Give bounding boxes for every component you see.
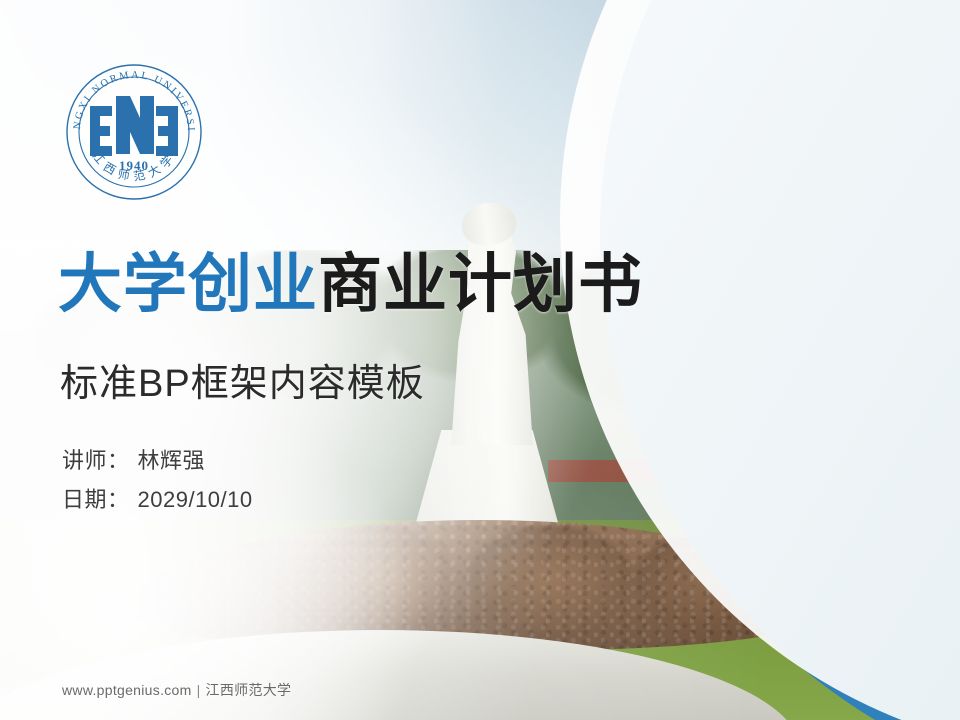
footer-organization: 江西师范大学	[206, 682, 292, 698]
slide-meta: 讲师：林辉强 日期：2029/10/10	[62, 442, 253, 519]
meta-value-presenter: 林辉强	[130, 442, 206, 481]
footer-site-url[interactable]: www.pptgenius.com	[62, 682, 192, 698]
slide-title-rest: 商业计划书	[318, 248, 643, 320]
university-logo: JIANGXI NORMAL UNIVERSITY 江西师范大学 1940	[60, 58, 208, 206]
slide-subtitle: 标准BP框架内容模板	[60, 352, 425, 407]
slide-title: 大学创业商业计划书	[58, 252, 643, 316]
meta-value-date: 2029/10/10	[130, 481, 253, 520]
slide-footer: www.pptgenius.com|江西师范大学	[62, 680, 291, 700]
meta-row-presenter: 讲师：林辉强	[62, 442, 253, 481]
meta-label-presenter: 讲师：	[62, 442, 130, 481]
meta-label-date: 日期：	[62, 481, 130, 520]
footer-separator: |	[192, 682, 206, 698]
svg-text:1940: 1940	[119, 158, 149, 173]
slide-title-highlight: 大学创业	[58, 248, 318, 320]
presentation-title-slide: JIANGXI NORMAL UNIVERSITY 江西师范大学 1940 大学…	[0, 0, 960, 720]
meta-row-date: 日期：2029/10/10	[62, 481, 253, 520]
